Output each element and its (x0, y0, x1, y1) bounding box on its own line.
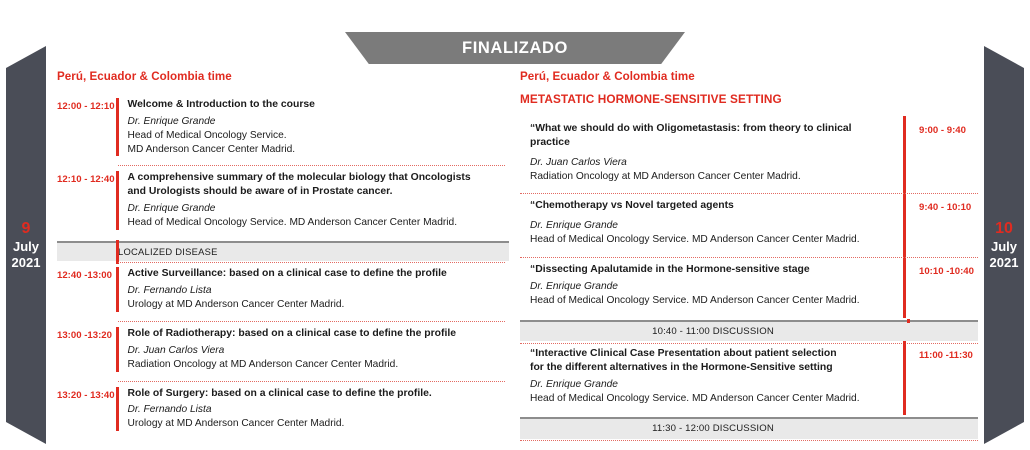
session-title: and Urologists should be aware of in Pro… (128, 185, 510, 199)
session-body: “Chemotherapy vs Novel targeted agents D… (520, 199, 903, 247)
session-accent-bar (116, 171, 119, 229)
session-accent-bar (116, 267, 119, 312)
session-body: “Dissecting Apalutamide in the Hormone-s… (520, 263, 903, 308)
session-affiliation: Urology at MD Anderson Cancer Center Mad… (128, 417, 510, 431)
session-time: 12:10 - 12:40 (57, 171, 113, 185)
section-title-metastatic: METASTATIC HORMONE-SENSITIVE SETTING (520, 92, 978, 106)
agenda-column-day9: Perú, Ecuador & Colombia time 12:00 - 12… (57, 70, 509, 440)
session-time: 11:00 -11:30 (906, 347, 978, 361)
session-affiliation: MD Anderson Cancer Center Madrid. (128, 143, 510, 157)
session-speaker: Dr. Enrique Grande (128, 202, 510, 216)
session-time: 13:20 - 13:40 (57, 387, 113, 401)
session-time: 12:00 - 12:10 (57, 98, 113, 112)
discussion-label: 10:40 - 11:00 DISCUSSION (652, 326, 846, 337)
session-title: A comprehensive summary of the molecular… (128, 171, 510, 185)
day-tab-left-month: July (13, 239, 39, 255)
session-speaker: Dr. Fernando Lista (128, 403, 510, 417)
session-title: “Chemotherapy vs Novel targeted agents (530, 199, 893, 213)
session-title: Role of Surgery: based on a clinical cas… (128, 387, 510, 401)
session-row[interactable]: 12:00 - 12:10 Welcome & Introduction to … (57, 92, 509, 165)
session-affiliation: Urology at MD Anderson Cancer Center Mad… (128, 298, 510, 312)
day-tab-right-year: 2021 (990, 255, 1019, 271)
session-body: “Interactive Clinical Case Presentation … (520, 347, 903, 405)
session-time: 10:10 -10:40 (906, 263, 978, 277)
session-speaker: Dr. Enrique Grande (530, 219, 893, 233)
session-time: 12:40 -13:00 (57, 267, 113, 281)
session-title: “Dissecting Apalutamide in the Hormone-s… (530, 263, 893, 277)
session-row[interactable]: “Chemotherapy vs Novel targeted agents D… (520, 193, 978, 257)
session-title: “Interactive Clinical Case Presentation … (530, 347, 893, 361)
session-title: Active Surveillance: based on a clinical… (128, 267, 510, 281)
session-affiliation: Radiation Oncology at MD Anderson Cancer… (128, 358, 510, 372)
session-affiliation: Head of Medical Oncology Service. MD And… (128, 216, 510, 230)
status-banner: FINALIZADO (345, 32, 685, 64)
session-time: 9:40 - 10:10 (906, 199, 978, 213)
session-affiliation: Head of Medical Oncology Service. MD And… (530, 294, 893, 308)
timezone-header-right: Perú, Ecuador & Colombia time (520, 70, 978, 83)
session-row[interactable]: 13:20 - 13:40 Role of Surgery: based on … (57, 381, 509, 441)
discussion-label: 11:30 - 12:00 DISCUSSION (652, 423, 846, 434)
day-tab-right[interactable]: 10 July 2021 (984, 46, 1024, 444)
session-speaker: Dr. Juan Carlos Viera (530, 156, 893, 170)
section-band-localized-disease: LOCALIZED DISEASE (57, 241, 509, 262)
session-title: for the different alternatives in the Ho… (530, 361, 893, 375)
session-accent-bar (116, 327, 119, 372)
discussion-band: 11:30 - 12:00 DISCUSSION (520, 417, 978, 439)
day-tab-right-month: July (991, 239, 1017, 255)
discussion-band: 10:40 - 11:00 DISCUSSION (520, 320, 978, 342)
session-accent-bar (116, 387, 119, 432)
session-body: Welcome & Introduction to the course Dr.… (128, 98, 510, 156)
status-banner-label: FINALIZADO (462, 39, 568, 58)
session-time: 13:00 -13:20 (57, 327, 113, 341)
session-row[interactable]: “What we should do with Oligometastasis:… (520, 116, 978, 193)
discussion-accent-bar (907, 319, 910, 323)
session-body: “What we should do with Oligometastasis:… (520, 122, 903, 183)
day-tab-right-number: 10 (995, 219, 1013, 239)
day-tab-left-number: 9 (22, 219, 31, 239)
day-tab-left-year: 2021 (12, 255, 41, 271)
session-title: Role of Radiotherapy: based on a clinica… (128, 327, 510, 341)
session-affiliation: Radiation Oncology at MD Anderson Cancer… (530, 170, 893, 184)
session-affiliation: Head of Medical Oncology Service. MD And… (530, 392, 893, 406)
session-row[interactable]: “Interactive Clinical Case Presentation … (520, 341, 978, 415)
session-speaker: Dr. Enrique Grande (530, 280, 893, 294)
session-time: 9:00 - 9:40 (906, 122, 978, 136)
session-row[interactable]: 12:10 - 12:40 A comprehensive summary of… (57, 165, 509, 238)
session-row[interactable]: 12:40 -13:00 Active Surveillance: based … (57, 261, 509, 321)
section-band-label: LOCALIZED DISEASE (118, 246, 218, 257)
day-tab-left[interactable]: 9 July 2021 (6, 46, 46, 444)
session-title: “What we should do with Oligometastasis:… (530, 122, 893, 150)
session-row[interactable]: “Dissecting Apalutamide in the Hormone-s… (520, 257, 978, 318)
session-speaker: Dr. Enrique Grande (530, 378, 893, 392)
session-row[interactable]: 13:00 -13:20 Role of Radiotherapy: based… (57, 321, 509, 381)
agenda-column-day10: Perú, Ecuador & Colombia time METASTATIC… (520, 70, 978, 439)
agenda-page: FINALIZADO 9 July 2021 10 July 2021 Perú… (0, 0, 1030, 450)
session-body: Active Surveillance: based on a clinical… (128, 267, 510, 312)
session-affiliation: Head of Medical Oncology Service. MD And… (530, 233, 893, 247)
session-body: A comprehensive summary of the molecular… (128, 171, 510, 229)
session-accent-bar (116, 98, 119, 156)
session-affiliation: Head of Medical Oncology Service. (128, 129, 510, 143)
session-body: Role of Radiotherapy: based on a clinica… (128, 327, 510, 372)
session-speaker: Dr. Fernando Lista (128, 284, 510, 298)
session-title: Welcome & Introduction to the course (128, 98, 510, 112)
timezone-header-left: Perú, Ecuador & Colombia time (57, 70, 509, 83)
session-speaker: Dr. Juan Carlos Viera (128, 344, 510, 358)
session-speaker: Dr. Enrique Grande (128, 115, 510, 129)
session-body: Role of Surgery: based on a clinical cas… (128, 387, 510, 432)
